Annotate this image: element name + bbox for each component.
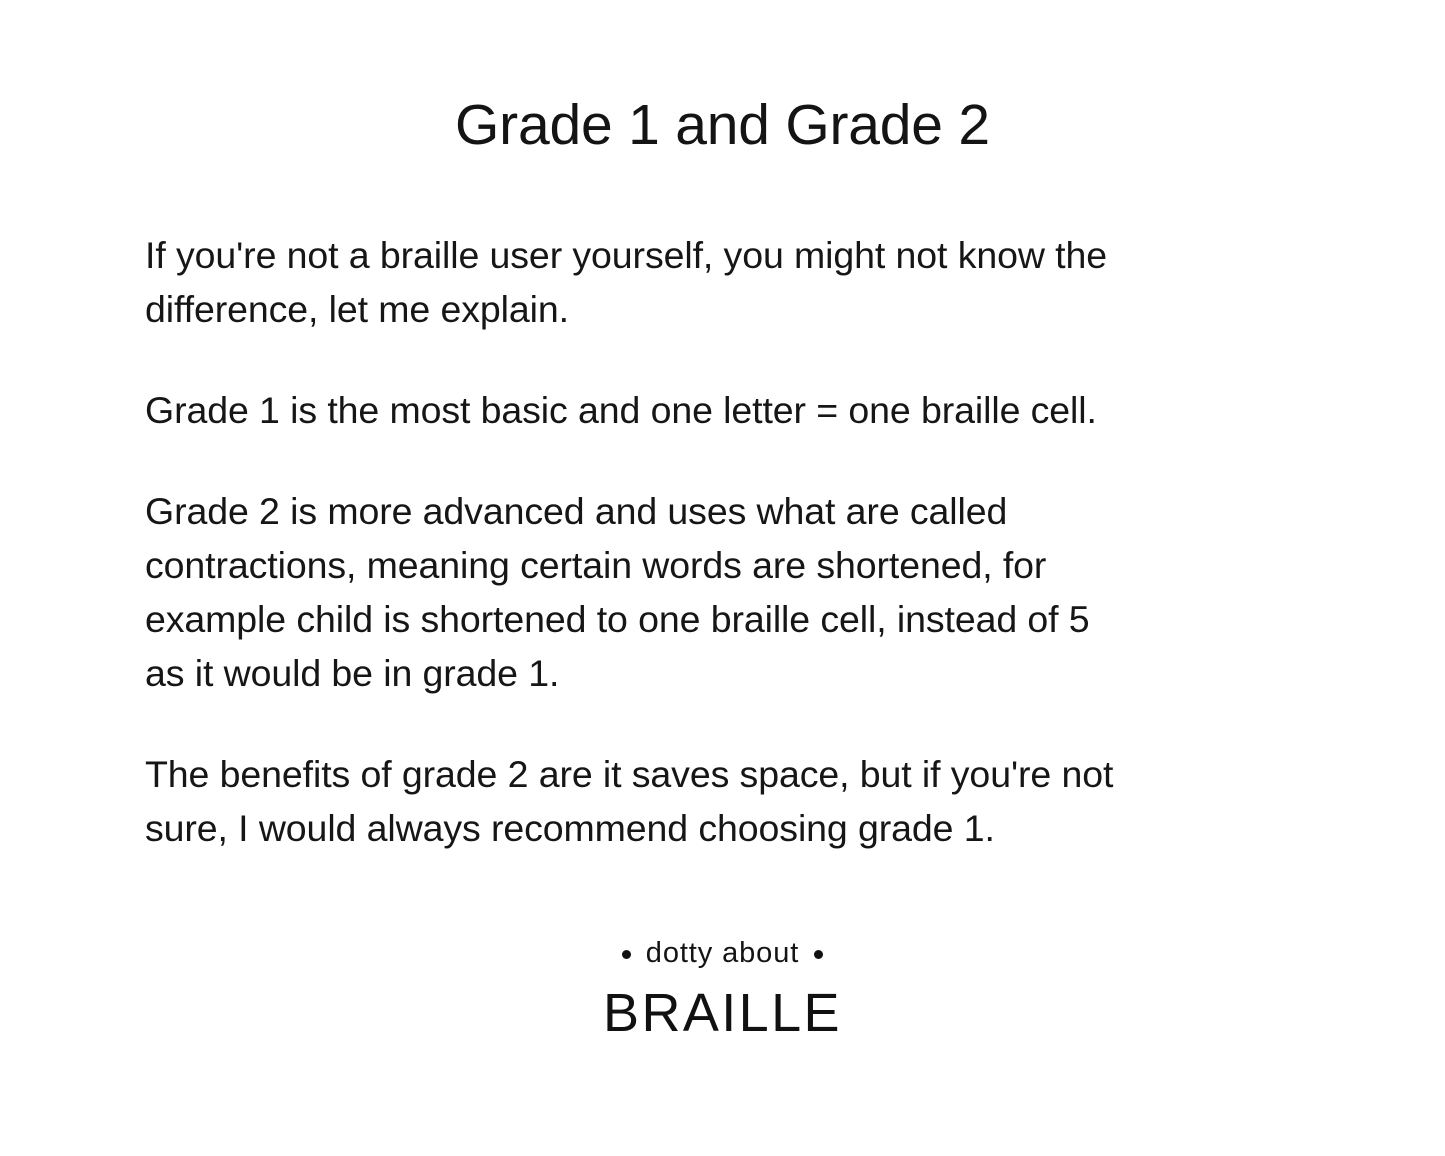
paragraph-benefits: The benefits of grade 2 are it saves spa… [145,747,1305,855]
paragraph-line: Grade 2 is more advanced and uses what a… [145,484,1305,538]
paragraph-line: contractions, meaning certain words are … [145,538,1305,592]
bullet-dot-icon-right [814,950,823,959]
paragraph-line: example child is shortened to one braill… [145,592,1305,646]
paragraph-intro: If you're not a braille user yourself, y… [145,228,1305,336]
page-title: Grade 1 and Grade 2 [455,92,990,159]
body-content: If you're not a braille user yourself, y… [145,228,1305,855]
logo-tagline-text: dotty about [646,936,799,971]
logo-tagline-row: dotty about [0,936,1445,971]
bullet-dot-icon-left [622,950,631,959]
brand-logo: dotty about BRAILLE [0,936,1445,1041]
logo-wordmark: BRAILLE [0,985,1445,1042]
paragraph-line: sure, I would always recommend choosing … [145,801,1305,855]
paragraph-line: Grade 1 is the most basic and one letter… [145,383,1305,437]
paragraph-line: The benefits of grade 2 are it saves spa… [145,747,1305,801]
title-block: Grade 1 and Grade 2 [0,92,1445,159]
paragraph-line: difference, let me explain. [145,282,1305,336]
paragraph-grade-1: Grade 1 is the most basic and one letter… [145,383,1305,437]
paragraph-line: as it would be in grade 1. [145,646,1305,700]
slide-canvas: Grade 1 and Grade 2 If you're not a brai… [0,0,1445,1156]
paragraph-line: If you're not a braille user yourself, y… [145,228,1305,282]
paragraph-grade-2: Grade 2 is more advanced and uses what a… [145,484,1305,700]
